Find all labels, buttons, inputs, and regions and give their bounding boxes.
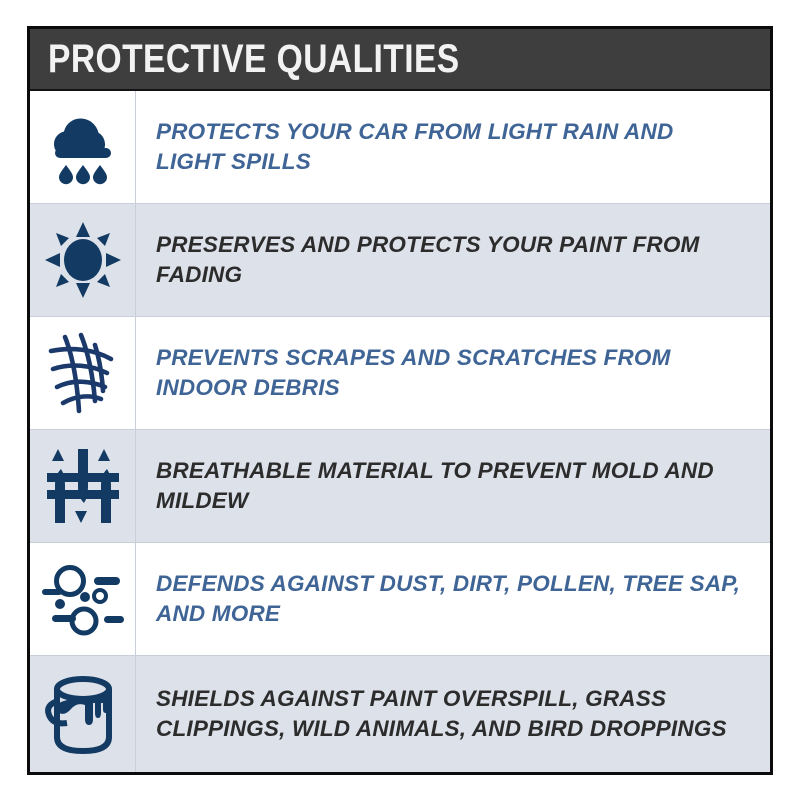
feature-row: BREATHABLE MATERIAL TO PREVENT MOLD AND … [30,430,770,543]
feature-label: BREATHABLE MATERIAL TO PREVENT MOLD AND … [156,456,744,516]
feature-icon-cell [30,91,136,203]
feature-text-cell: PROTECTS YOUR CAR FROM LIGHT RAIN AND LI… [136,91,770,203]
feature-icon-cell [30,543,136,655]
feature-label: DEFENDS AGAINST DUST, DIRT, POLLEN, TREE… [156,569,744,629]
rain-cloud-icon [45,107,121,187]
feature-text-cell: SHIELDS AGAINST PAINT OVERSPILL, GRASS C… [136,656,770,772]
feature-icon-cell [30,317,136,429]
dust-particles-icon [40,559,126,639]
feature-icon-cell [30,430,136,542]
feature-row: PREVENTS SCRAPES AND SCRATCHES FROM INDO… [30,317,770,430]
feature-text-cell: DEFENDS AGAINST DUST, DIRT, POLLEN, TREE… [136,543,770,655]
feature-row: SHIELDS AGAINST PAINT OVERSPILL, GRASS C… [30,656,770,772]
feature-label: PROTECTS YOUR CAR FROM LIGHT RAIN AND LI… [156,117,744,177]
scratches-icon [43,329,123,417]
feature-row: PRESERVES AND PROTECTS YOUR PAINT FROM F… [30,204,770,317]
feature-icon-cell [30,204,136,316]
feature-text-cell: BREATHABLE MATERIAL TO PREVENT MOLD AND … [136,430,770,542]
feature-icon-cell [30,656,136,772]
feature-label: SHIELDS AGAINST PAINT OVERSPILL, GRASS C… [156,684,744,744]
page-title: PROTECTIVE QUALITIES [48,39,460,79]
feature-label: PREVENTS SCRAPES AND SCRATCHES FROM INDO… [156,343,744,403]
feature-text-cell: PRESERVES AND PROTECTS YOUR PAINT FROM F… [136,204,770,316]
feature-row: DEFENDS AGAINST DUST, DIRT, POLLEN, TREE… [30,543,770,656]
paint-can-icon [41,671,125,757]
feature-row: PROTECTS YOUR CAR FROM LIGHT RAIN AND LI… [30,91,770,204]
feature-text-cell: PREVENTS SCRAPES AND SCRATCHES FROM INDO… [136,317,770,429]
protective-qualities-card: PROTECTIVE QUALITIES PROTECTS YOUR CAR F… [27,26,773,775]
card-header: PROTECTIVE QUALITIES [30,29,770,91]
sun-icon [43,220,123,300]
breathable-arrows-icon [43,445,123,527]
feature-label: PRESERVES AND PROTECTS YOUR PAINT FROM F… [156,230,744,290]
